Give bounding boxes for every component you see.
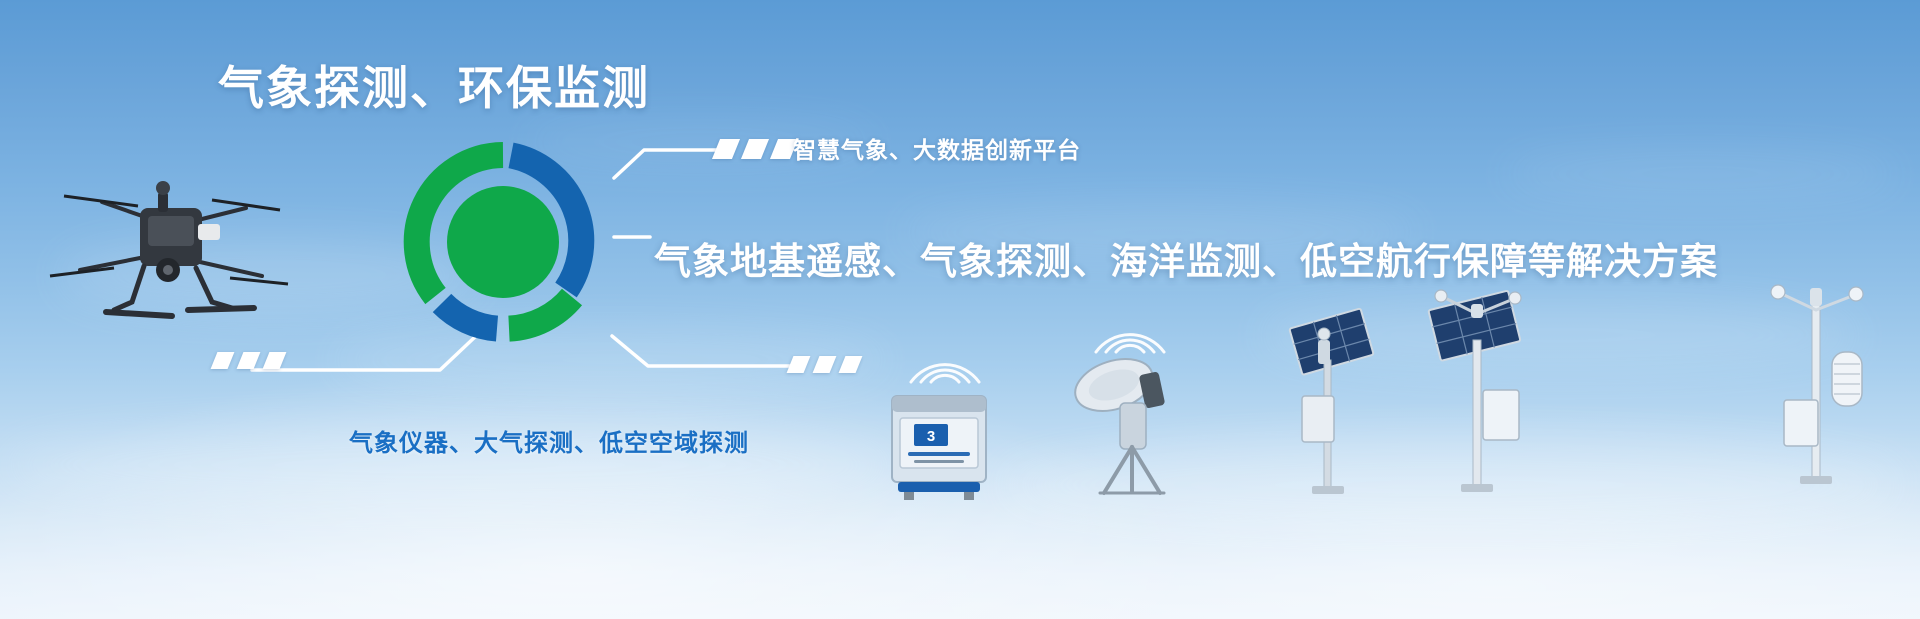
cloud-wisp xyxy=(1500,150,1900,198)
slash-marks-top xyxy=(716,139,794,159)
slash-marks-right-lower xyxy=(790,356,859,373)
label-solutions-main: 气象地基遥感、气象探测、海洋监测、低空航行保障等解决方案 xyxy=(654,231,1718,285)
slash-marks-bottom-left xyxy=(214,352,283,369)
svg-text:3: 3 xyxy=(927,428,935,445)
signal-wave-icon xyxy=(905,330,985,386)
label-instruments: 气象仪器、大气探测、低空空域探测 xyxy=(349,423,749,458)
instrument-cabinet-icon: 3 xyxy=(884,382,994,502)
circular-ring-logo-icon xyxy=(392,131,614,353)
solar-panel-station-icon xyxy=(1278,300,1388,500)
weather-monitoring-banner: 气象探测、环保监测 xyxy=(0,0,1920,619)
quadcopter-drone-icon xyxy=(40,150,290,350)
banner-title: 气象探测、环保监测 xyxy=(218,52,650,118)
radar-dish-tripod-icon xyxy=(1070,355,1190,500)
solar-panel-station-icon xyxy=(1415,280,1540,500)
weather-station-anemometer-icon xyxy=(1760,270,1880,500)
signal-wave-icon xyxy=(1090,300,1170,356)
label-smart-weather-platform: 智慧气象、大数据创新平台 xyxy=(793,131,1081,165)
